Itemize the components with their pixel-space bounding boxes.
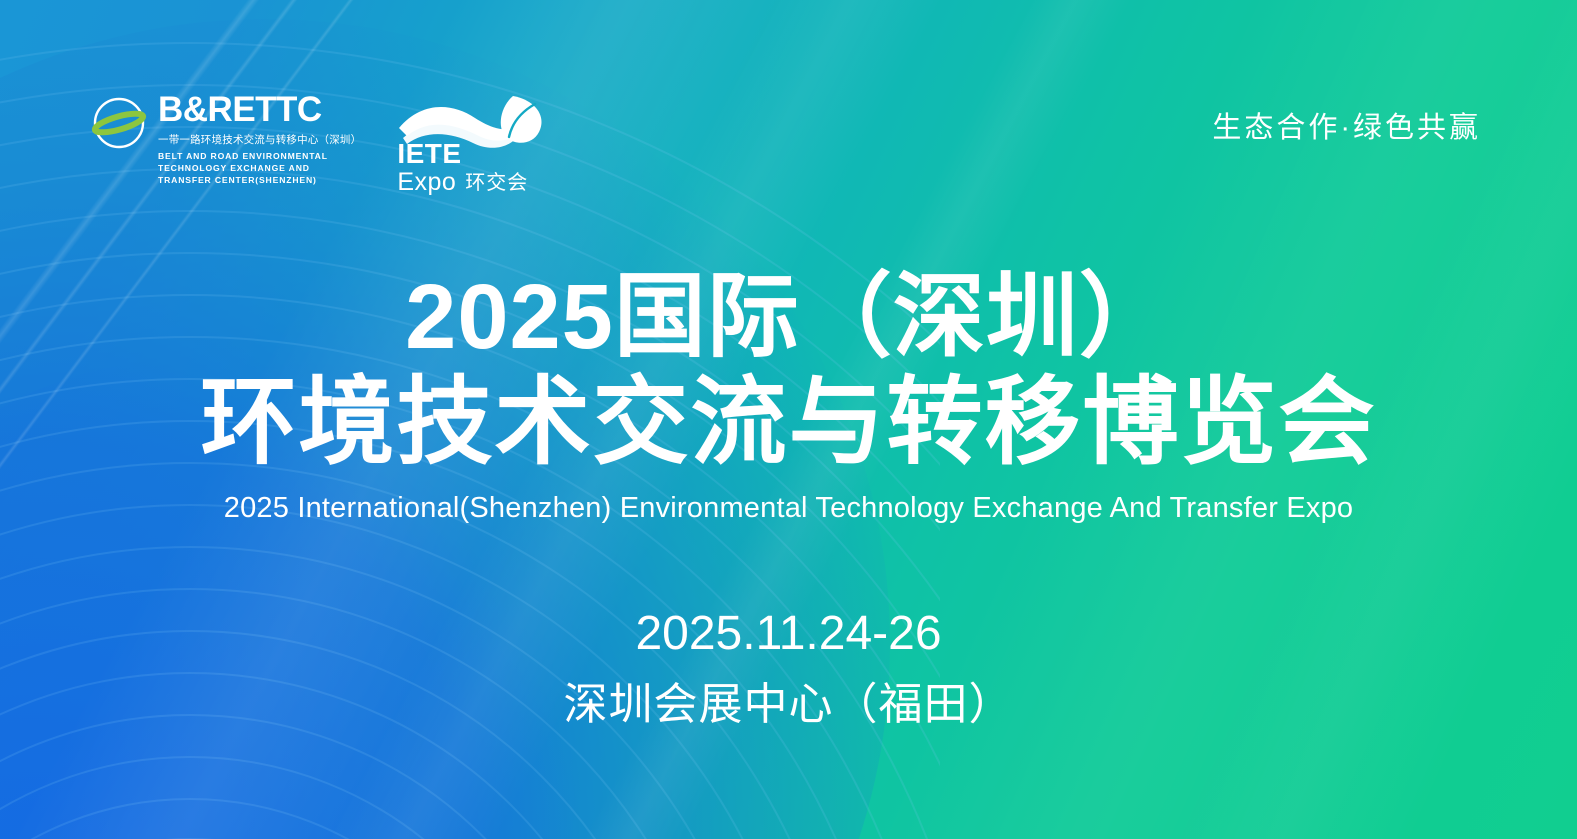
poster-main: 2025国际（深圳） 环境技术交流与转移博览会 2025 Internation… bbox=[0, 0, 1577, 839]
event-poster: B&RETTC 一带一路环境技术交流与转移中心（深圳） BELT AND ROA… bbox=[0, 0, 1577, 839]
event-date: 2025.11.24-26 bbox=[0, 606, 1577, 661]
title-line-2: 环境技术交流与转移博览会 bbox=[0, 371, 1577, 475]
subtitle-english: 2025 International(Shenzhen) Environment… bbox=[0, 492, 1577, 525]
title-line-1: 2025国际（深圳） bbox=[0, 268, 1577, 367]
event-venue: 深圳会展中心（福田） bbox=[0, 668, 1577, 732]
